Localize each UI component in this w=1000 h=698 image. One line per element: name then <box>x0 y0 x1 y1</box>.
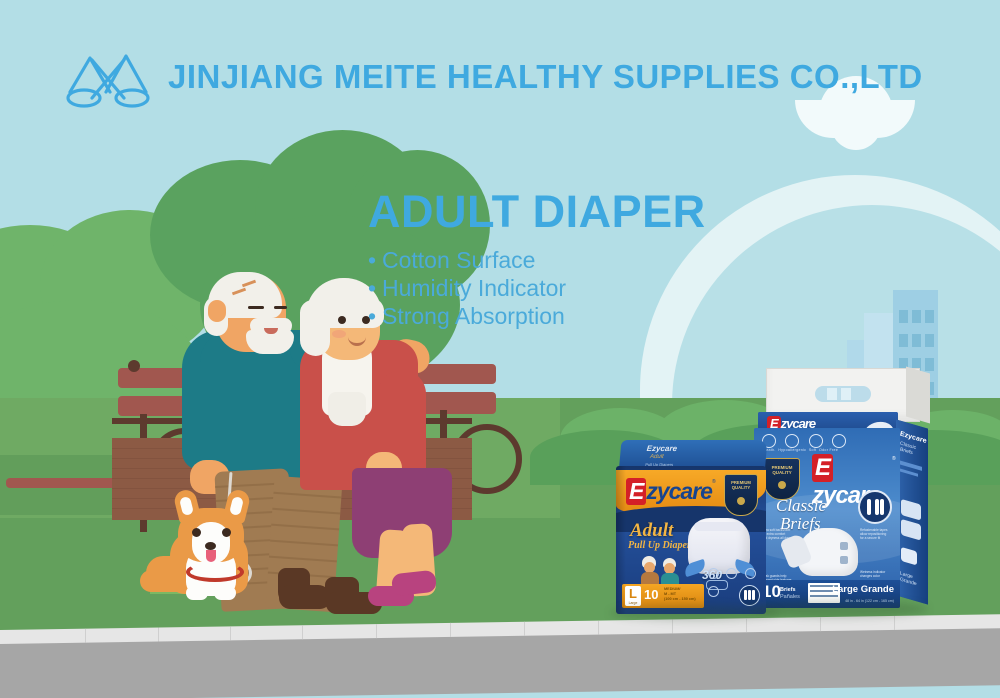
mountain-ribbon-logo-icon <box>62 48 154 110</box>
pack-count-label-2: Pañales <box>780 594 800 600</box>
pack-side-panel: Ezycare Classic Briefs Large Grande <box>896 419 928 604</box>
banner-header: JINJIANG MEITE HEALTHY SUPPLIES CO.,LTD <box>0 0 1000 130</box>
bullet-marker-icon: • <box>368 246 382 274</box>
product-shadow <box>748 600 928 618</box>
list-item-label: Humidity Indicator <box>382 275 566 301</box>
premium-quality-badge: PREMIUM QUALITY <box>724 474 758 516</box>
list-item-label: Cotton Surface <box>382 247 535 273</box>
pack-front-face: Ezycare ® PREMIUM QUALITY Adult Pull Up … <box>616 466 766 614</box>
company-name: JINJIANG MEITE HEALTHY SUPPLIES CO.,LTD <box>168 58 923 96</box>
pack-size-label: Large Grande <box>832 584 894 595</box>
unisex-badge-icon <box>739 585 760 606</box>
pack-front-face: Breath. Hypoallergenic Soft Odor Free PR… <box>754 428 900 608</box>
list-item: •Humidity Indicator <box>368 274 566 302</box>
product-line-2: Pull Up Diapers <box>628 540 695 551</box>
feature-list: •Cotton Surface •Humidity Indicator •Str… <box>368 246 566 330</box>
list-item: •Cotton Surface <box>368 246 566 274</box>
unisex-badge-icon <box>858 490 892 524</box>
size-word: Large <box>625 601 641 605</box>
adult-pull-up-diapers-pack: Ezycare Adult Pull Up Diapers Ezycare ® … <box>612 440 772 615</box>
product-line-1: Classic <box>776 496 826 516</box>
list-item: •Strong Absorption <box>368 302 566 330</box>
promotional-banner: JINJIANG MEITE HEALTHY SUPPLIES CO.,LTD … <box>0 0 1000 698</box>
pack-count: 10 <box>644 587 658 602</box>
brand-name: zycare <box>646 478 712 504</box>
badge-line-2: QUALITY <box>772 470 791 475</box>
bullet-marker-icon: • <box>368 302 382 330</box>
product-line-1: Adult <box>630 520 673 542</box>
classic-briefs-pack: Ezycare Classic Briefs Large Grande 10 B… <box>748 368 933 618</box>
spec-line-1: MEDIUM/ <box>664 587 680 591</box>
brand-initial: E <box>812 454 833 482</box>
list-item-label: Strong Absorption <box>382 303 565 329</box>
spec-line-3: (100 cm - 150 cm) <box>664 597 696 601</box>
brand-initial: E <box>626 478 646 505</box>
pack-count-label-1: Briefs <box>780 587 796 593</box>
page-title: ADULT DIAPER <box>368 186 706 238</box>
bullet-marker-icon: • <box>368 274 382 302</box>
badge-line-2: QUALITY <box>732 485 750 490</box>
carton-handle-slot <box>815 386 871 402</box>
spec-line-2: M - MT <box>664 592 676 596</box>
